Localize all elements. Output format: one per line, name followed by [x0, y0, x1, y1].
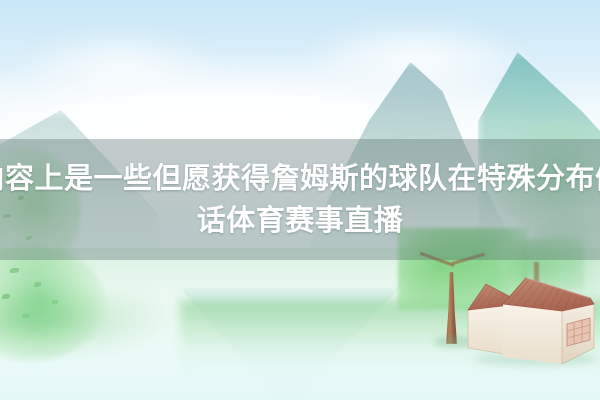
caption: 内容上是一些但愿获得詹姆斯的球队在特殊分布假 话体育赛事直播 — [0, 139, 600, 260]
leaf-speck — [10, 268, 19, 273]
house-front-wall — [503, 304, 562, 364]
leaf-speck — [22, 314, 29, 318]
caption-line-1: 内容上是一些但愿获得詹姆斯的球队在特殊分布假 — [0, 161, 600, 197]
house-left-wall — [468, 304, 504, 354]
house-illustration — [466, 274, 600, 370]
house — [466, 274, 600, 370]
leaf-speck — [2, 294, 10, 299]
leaf-speck — [34, 282, 41, 287]
image-banner: 内容上是一些但愿获得詹姆斯的球队在特殊分布假 话体育赛事直播 — [0, 0, 600, 400]
leaf-speck — [52, 300, 58, 304]
caption-line-2: 话体育赛事直播 — [197, 203, 404, 239]
